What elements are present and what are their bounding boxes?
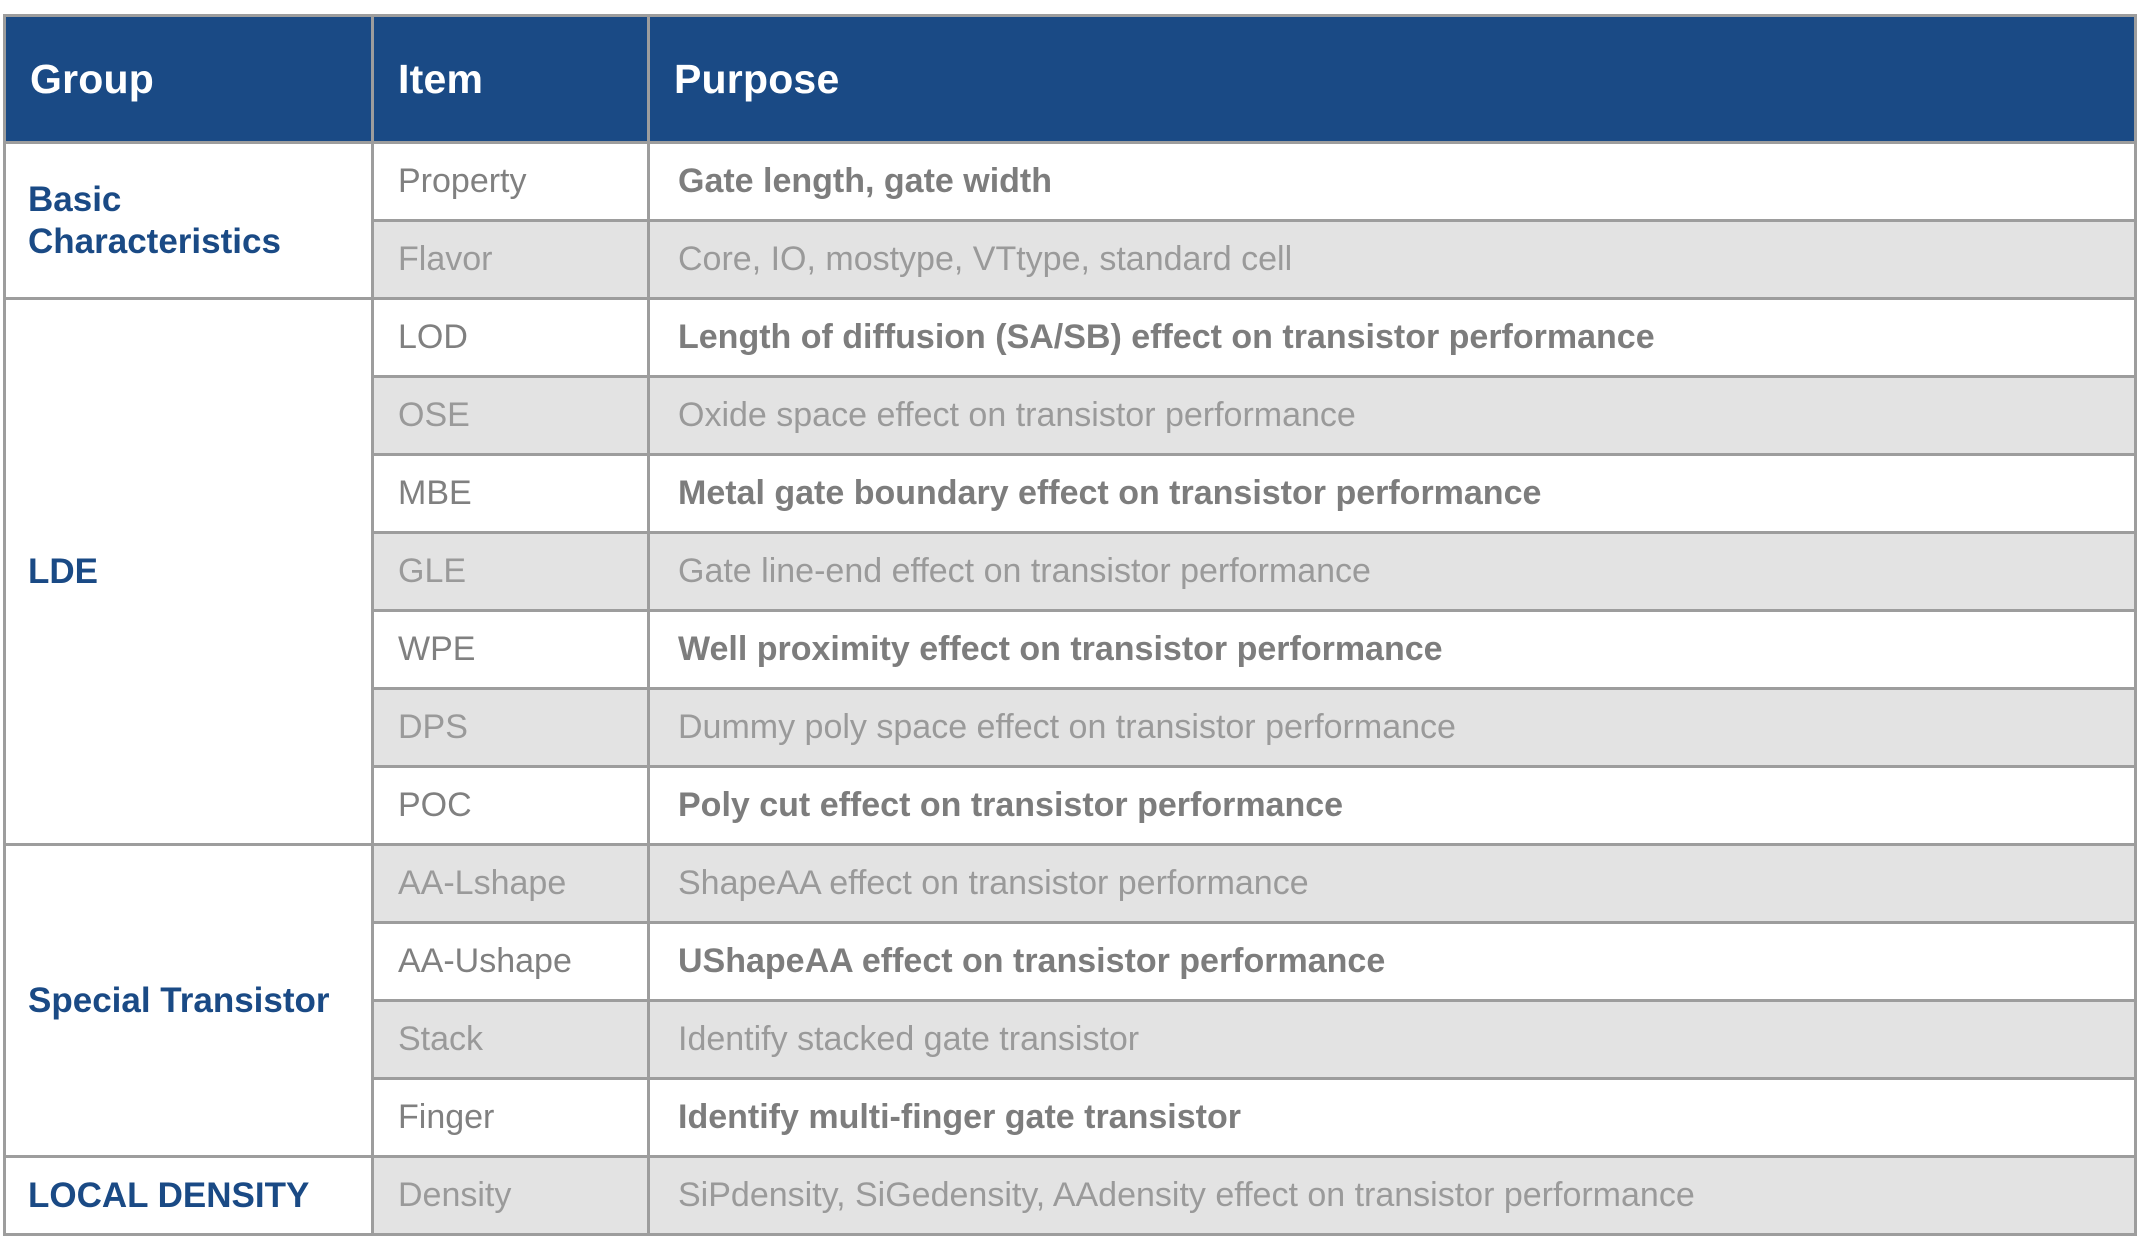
spec-table-container: Group Item Purpose Basic Characteristics… bbox=[3, 14, 2134, 1222]
item-cell: Finger bbox=[373, 1079, 649, 1157]
group-cell-basic-characteristics: Basic Characteristics bbox=[5, 143, 373, 299]
table-row: Basic Characteristics Property Gate leng… bbox=[5, 143, 2136, 221]
item-cell: Flavor bbox=[373, 221, 649, 299]
item-cell: WPE bbox=[373, 611, 649, 689]
purpose-cell: Oxide space effect on transistor perform… bbox=[649, 377, 2136, 455]
purpose-cell: Gate length, gate width bbox=[649, 143, 2136, 221]
purpose-cell: Identify multi-finger gate transistor bbox=[649, 1079, 2136, 1157]
column-header-item: Item bbox=[373, 16, 649, 143]
item-cell: Property bbox=[373, 143, 649, 221]
group-cell-lde: LDE bbox=[5, 299, 373, 845]
purpose-cell: Gate line-end effect on transistor perfo… bbox=[649, 533, 2136, 611]
purpose-cell: Well proximity effect on transistor perf… bbox=[649, 611, 2136, 689]
item-cell: OSE bbox=[373, 377, 649, 455]
header-row: Group Item Purpose bbox=[5, 16, 2136, 143]
purpose-cell: Length of diffusion (SA/SB) effect on tr… bbox=[649, 299, 2136, 377]
table-row: LOCAL DENSITY Density SiPdensity, SiGede… bbox=[5, 1157, 2136, 1235]
table-body: Basic Characteristics Property Gate leng… bbox=[5, 143, 2136, 1235]
purpose-cell: Poly cut effect on transistor performanc… bbox=[649, 767, 2136, 845]
item-cell: Stack bbox=[373, 1001, 649, 1079]
item-cell: LOD bbox=[373, 299, 649, 377]
group-cell-local-density: LOCAL DENSITY bbox=[5, 1157, 373, 1235]
item-cell: POC bbox=[373, 767, 649, 845]
purpose-cell: SiPdensity, SiGedensity, AAdensity effec… bbox=[649, 1157, 2136, 1235]
table-header: Group Item Purpose bbox=[5, 16, 2136, 143]
item-cell: AA-Ushape bbox=[373, 923, 649, 1001]
item-cell: DPS bbox=[373, 689, 649, 767]
table-row: LDE LOD Length of diffusion (SA/SB) effe… bbox=[5, 299, 2136, 377]
purpose-cell: UShapeAA effect on transistor performanc… bbox=[649, 923, 2136, 1001]
item-cell: Density bbox=[373, 1157, 649, 1235]
item-cell: AA-Lshape bbox=[373, 845, 649, 923]
column-header-group: Group bbox=[5, 16, 373, 143]
item-cell: GLE bbox=[373, 533, 649, 611]
transistor-spec-table: Group Item Purpose Basic Characteristics… bbox=[3, 14, 2137, 1236]
purpose-cell: Metal gate boundary effect on transistor… bbox=[649, 455, 2136, 533]
purpose-cell: Dummy poly space effect on transistor pe… bbox=[649, 689, 2136, 767]
table-row: Special Transistor AA-Lshape ShapeAA eff… bbox=[5, 845, 2136, 923]
column-header-purpose: Purpose bbox=[649, 16, 2136, 143]
purpose-cell: Core, IO, mostype, VTtype, standard cell bbox=[649, 221, 2136, 299]
purpose-cell: Identify stacked gate transistor bbox=[649, 1001, 2136, 1079]
purpose-cell: ShapeAA effect on transistor performance bbox=[649, 845, 2136, 923]
group-cell-special-transistor: Special Transistor bbox=[5, 845, 373, 1157]
item-cell: MBE bbox=[373, 455, 649, 533]
